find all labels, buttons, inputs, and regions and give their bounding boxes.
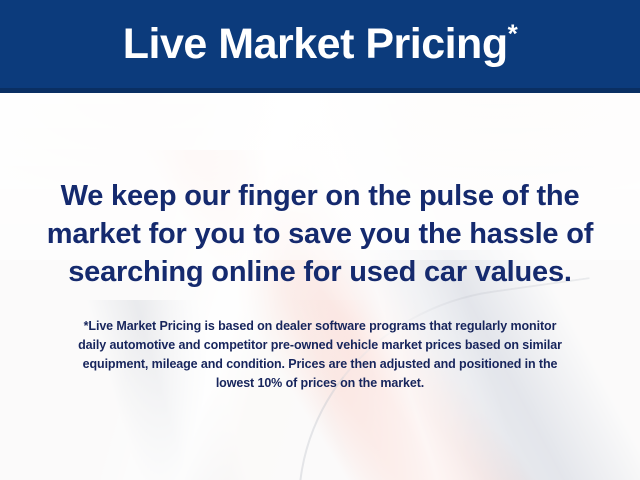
disclaimer-line: equipment, mileage and condition. Prices… <box>26 355 614 374</box>
disclaimer-block: *Live Market Pricing is based on dealer … <box>26 317 614 393</box>
header-underline <box>0 88 640 93</box>
headline-block: We keep our finger on the pulse of the m… <box>26 177 614 291</box>
page-title-footnote-marker: * <box>508 18 518 48</box>
disclaimer-line: lowest 10% of prices on the market. <box>26 374 614 393</box>
headline-line: searching online for used car values. <box>26 253 614 291</box>
header-band: Live Market Pricing* <box>0 0 640 88</box>
disclaimer-line: *Live Market Pricing is based on dealer … <box>26 317 614 336</box>
page-title: Live Market Pricing* <box>123 23 517 66</box>
live-market-pricing-banner: Live Market Pricing* We keep our finger … <box>0 0 640 480</box>
headline-line: We keep our finger on the pulse of the <box>26 177 614 215</box>
content-area: We keep our finger on the pulse of the m… <box>0 93 640 480</box>
page-title-text: Live Market Pricing <box>123 20 508 68</box>
disclaimer-line: daily automotive and competitor pre-owne… <box>26 336 614 355</box>
headline-line: market for you to save you the hassle of <box>26 215 614 253</box>
